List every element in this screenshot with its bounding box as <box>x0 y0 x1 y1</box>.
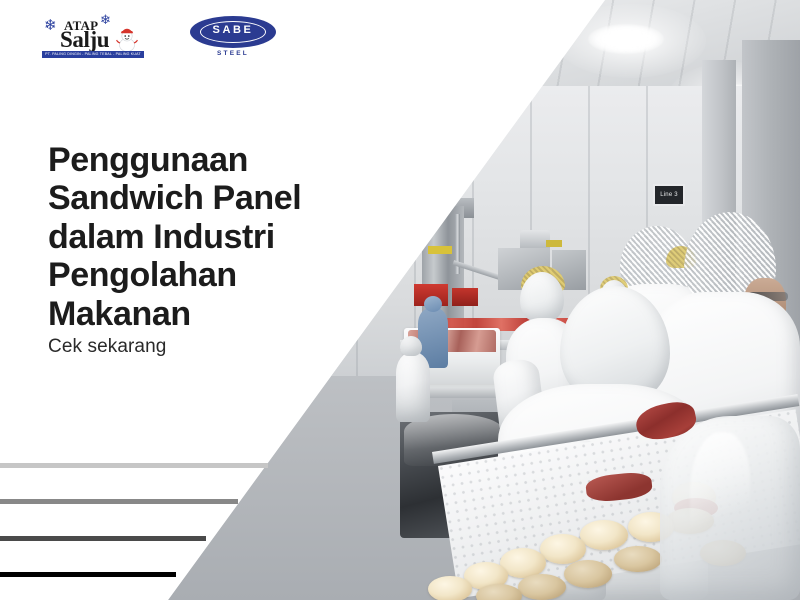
logo-atap-salju[interactable]: ❄ ❄ ATAP Salju PT. PALING DINGIN - <box>42 10 144 62</box>
sabe-wordmark: SABE <box>190 24 276 36</box>
snowman-mascot-icon <box>116 26 138 52</box>
logo-row: ❄ ❄ ATAP Salju PT. PALING DINGIN - <box>42 10 276 62</box>
sabe-subtitle: STEEL <box>190 50 276 57</box>
bread-round <box>540 534 586 564</box>
logo-tagline: PT. PALING DINGIN - PALING TEBAL - PALIN… <box>42 51 144 58</box>
bread-round <box>614 546 662 572</box>
decor-line <box>0 463 268 468</box>
decor-line <box>0 536 206 541</box>
worker-hood <box>400 336 422 356</box>
bread-round <box>518 574 566 600</box>
red-crate <box>452 288 478 306</box>
worker-head <box>424 296 442 312</box>
machine-guard <box>546 240 562 247</box>
bread-round <box>580 520 628 550</box>
snowflake-icon: ❄ <box>100 13 111 26</box>
call-to-action-text[interactable]: Cek sekarang <box>48 336 166 358</box>
logo-sabe-steel[interactable]: SABE STEEL <box>190 10 276 62</box>
snowflake-icon: ❄ <box>44 18 57 33</box>
machine-guard <box>428 246 452 254</box>
wall-sign: Line 3 <box>653 184 685 206</box>
ceiling-lamp-icon <box>588 24 664 54</box>
bread-round <box>428 576 472 600</box>
glove-highlight <box>690 432 750 552</box>
banner-canvas: Line 3 <box>0 0 800 600</box>
bread-round <box>564 560 612 588</box>
decor-line <box>0 499 238 504</box>
logo-salju-word: Salju <box>60 28 109 51</box>
worker-left-edge <box>396 352 430 422</box>
worker-hood <box>520 272 564 322</box>
page-title: Penggunaan Sandwich Panel dalam Industri… <box>48 141 378 333</box>
decor-line <box>0 572 176 577</box>
